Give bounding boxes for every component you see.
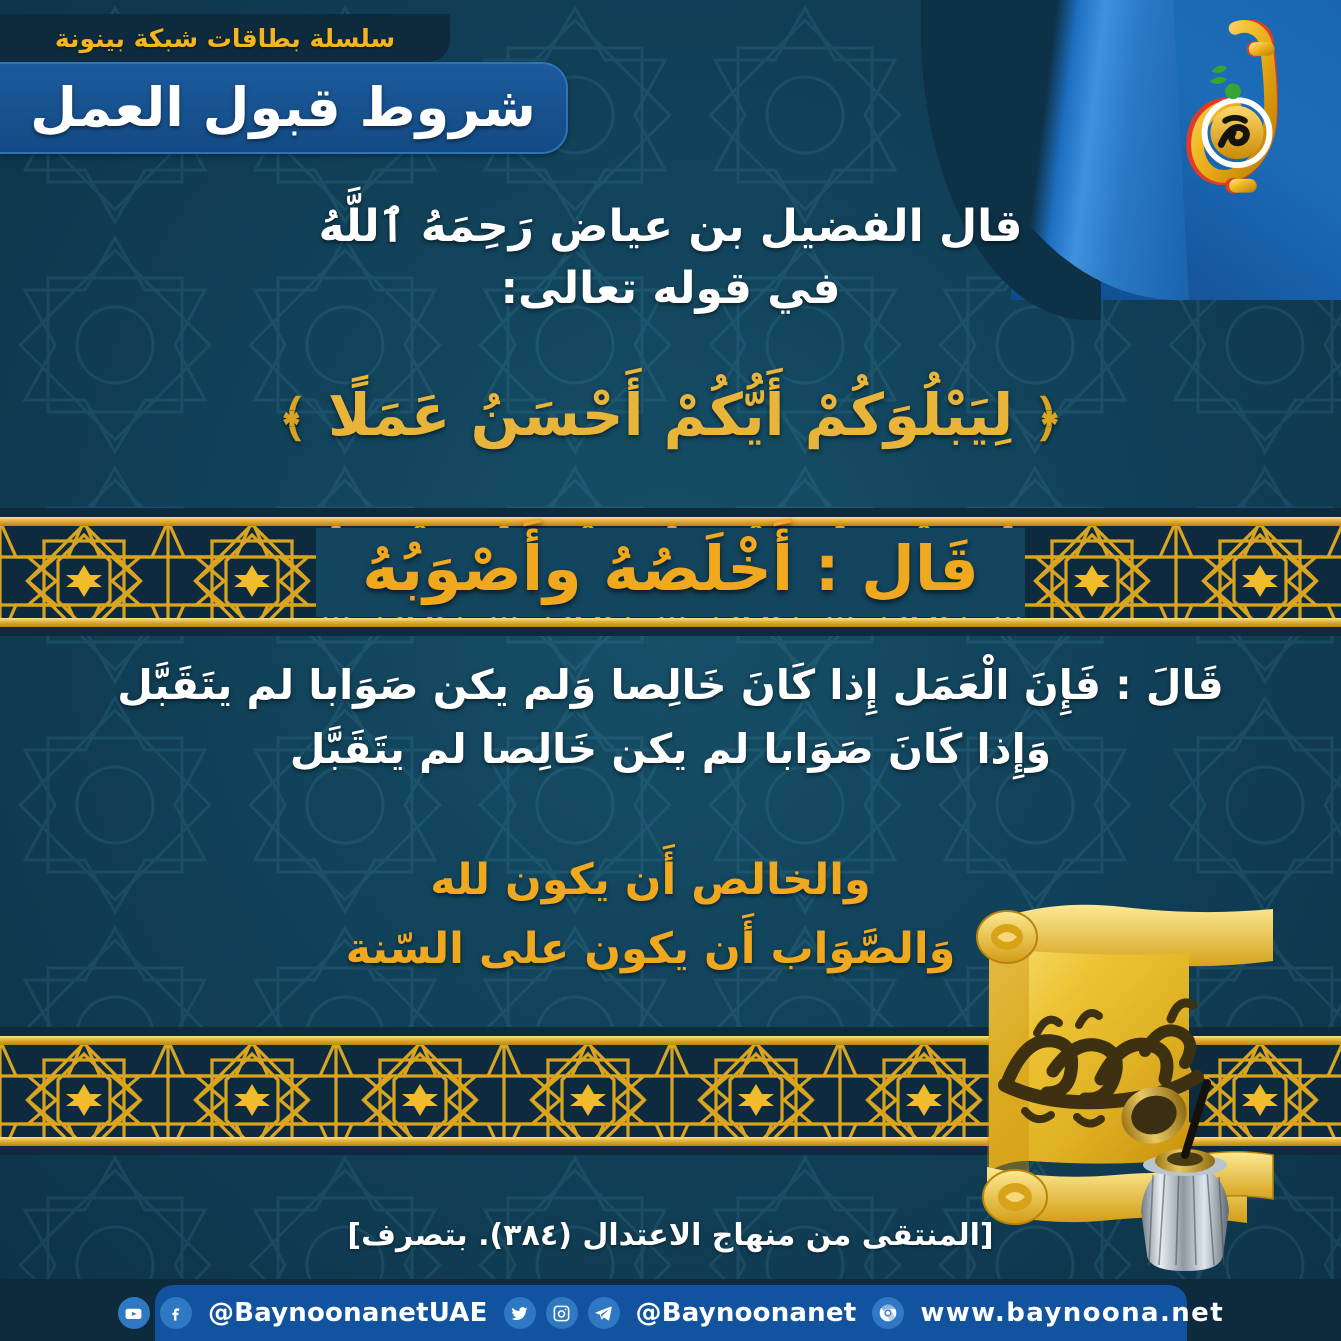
baynoona-logo-icon <box>1178 14 1296 204</box>
body-line-2: وَإِذا كَانَ صَوَابا لم يكن خَالِصا لم ي… <box>70 718 1271 782</box>
intro-line-1: قال الفضيل بن عياض رَحِمَهُ ٱللَّهُ <box>180 196 1161 258</box>
footer-bar: @BaynoonanetUAE @Baynoonanet <box>0 1279 1341 1341</box>
intro-line-2: في قوله تعالى: <box>180 258 1161 320</box>
islamic-info-card: سلسلة بطاقات شبكة بينونة شروط قبول العمل… <box>0 0 1341 1341</box>
citation: [المنتقى من منهاج الاعتدال (٣٨٤). بتصرف] <box>0 1218 1341 1253</box>
page-title-label: شروط قبول العمل <box>30 81 536 135</box>
verse-close-bracket: ﴾ <box>278 389 307 447</box>
gold-line-1: والخالص أَن يكون لله <box>260 846 1041 915</box>
facebook-icon[interactable] <box>160 1297 192 1329</box>
verse-text: لِيَبْلُوَكُمْ أَيُّكُمْ أَحْسَنُ عَمَلً… <box>328 381 1013 449</box>
telegram-icon[interactable] <box>588 1297 620 1329</box>
handle-uae: @BaynoonanetUAE <box>208 1298 488 1328</box>
highlight-phrase: قَال : أَخْلَصُهُ وأَصْوَبُهُ <box>0 508 1341 636</box>
verse-open-bracket: ﴿ <box>1033 389 1062 447</box>
series-tag-label: سلسلة بطاقات شبكة بينونة <box>55 24 395 53</box>
highlight-phrase-label: قَال : أَخْلَصُهُ وأَصْوَبُهُ <box>362 532 979 605</box>
instagram-icon[interactable] <box>546 1297 578 1329</box>
intro-block: قال الفضيل بن عياض رَحِمَهُ ٱللَّهُ في ق… <box>0 196 1341 321</box>
website-url: www.baynoona.net <box>920 1298 1224 1328</box>
quran-verse: ﴿ لِيَبْلُوَكُمْ أَيُّكُمْ أَحْسَنُ عَمَ… <box>0 378 1341 453</box>
handle-main: @Baynoonanet <box>636 1298 857 1328</box>
page-title: شروط قبول العمل <box>0 62 568 154</box>
chrome-icon[interactable] <box>872 1297 904 1329</box>
youtube-icon[interactable] <box>118 1297 150 1329</box>
gold-line-2: وَالصَّوَاب أَن يكون على السّنة <box>260 915 1041 984</box>
body-text-block: قَالَ : فَإِنَ الْعَمَل إِذا كَانَ خَالِ… <box>0 654 1341 781</box>
citation-label: [المنتقى من منهاج الاعتدال (٣٨٤). بتصرف] <box>347 1218 993 1253</box>
twitter-icon[interactable] <box>504 1297 536 1329</box>
body-line-1: قَالَ : فَإِنَ الْعَمَل إِذا كَانَ خَالِ… <box>70 654 1271 718</box>
series-tag: سلسلة بطاقات شبكة بينونة <box>0 14 450 62</box>
